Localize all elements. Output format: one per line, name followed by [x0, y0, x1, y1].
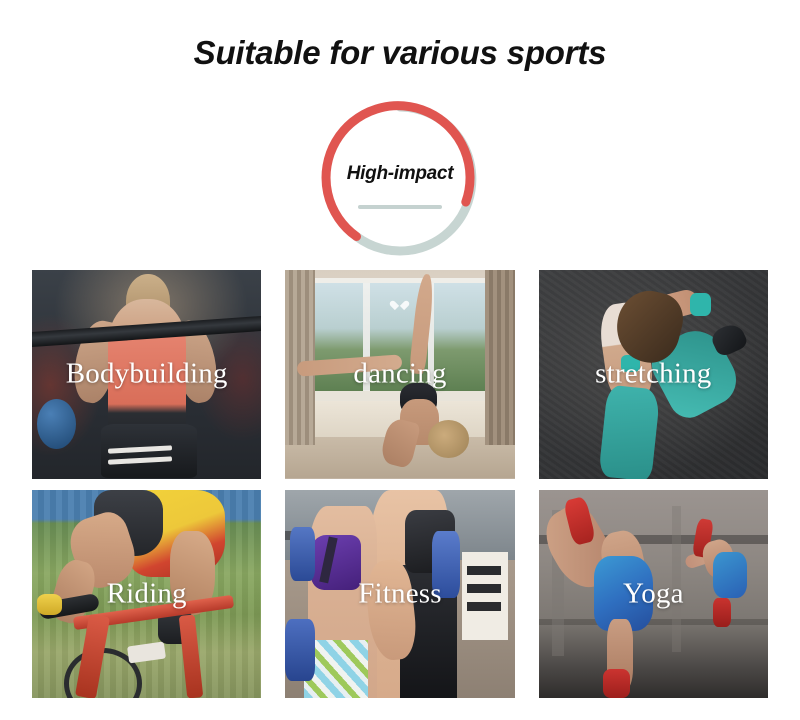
tile-label-riding: Riding [32, 577, 261, 610]
sports-promo-page: Suitable for various sports High-impact [0, 0, 800, 720]
dancer1-standing-sock-shape [603, 669, 631, 698]
tile-label-bodybuilding: Bodybuilding [32, 358, 261, 391]
page-title: Suitable for various sports [0, 34, 800, 72]
left-leg-pants-shape [598, 384, 660, 478]
gauge-label: High-impact [320, 163, 480, 185]
tile-bodybuilding[interactable]: Bodybuilding [32, 270, 261, 479]
tile-dancing[interactable]: dancing [285, 270, 514, 479]
tile-label-yoga: Yoga [539, 577, 768, 610]
dumbbell-lower-left [285, 619, 315, 682]
tile-stretching[interactable]: stretching [539, 270, 768, 479]
wall-beam-lower [539, 619, 768, 625]
gauge-underline [358, 205, 442, 209]
tile-fitness[interactable]: Fitness [285, 490, 514, 699]
tile-riding[interactable]: Riding [32, 490, 261, 699]
glove-shape-upper [690, 293, 711, 316]
sports-tile-grid: Bodybuilding [32, 270, 768, 698]
tile-label-dancing: dancing [285, 358, 514, 391]
tile-yoga[interactable]: Yoga [539, 490, 768, 699]
tile-label-stretching: stretching [539, 358, 768, 391]
dumbbell-upper-left [290, 527, 315, 581]
gym-ball-shape [37, 399, 76, 449]
heart-icon [394, 299, 405, 309]
tile-label-fitness: Fitness [285, 577, 514, 610]
hair-shape [428, 420, 469, 458]
high-impact-gauge: High-impact [320, 99, 480, 261]
